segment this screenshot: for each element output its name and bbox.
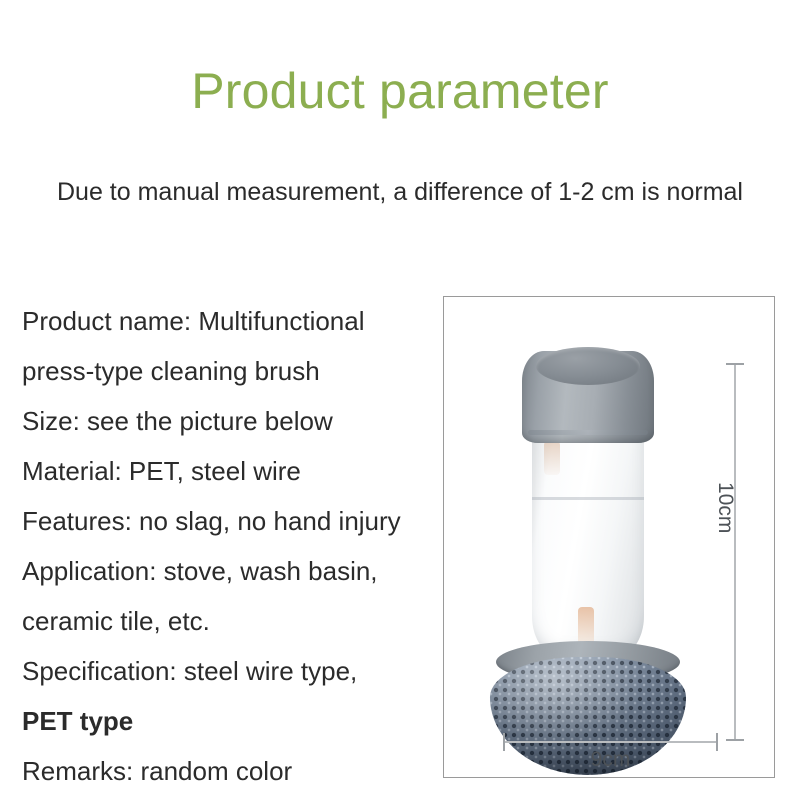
height-tick-top: [726, 363, 744, 365]
height-dimension-line: [734, 363, 736, 741]
spec-line-remarks: Remarks: random color: [22, 746, 432, 796]
specification-list: Product name: Multifunctional press-type…: [22, 296, 432, 796]
spec-line-application-cont: ceramic tile, etc.: [22, 596, 432, 646]
spec-line-features: Features: no slag, no hand injury: [22, 496, 432, 546]
width-dimension-label: 9cm: [503, 747, 718, 773]
height-tick-bottom: [726, 739, 744, 741]
cleaning-brush-illustration: [482, 345, 694, 725]
spec-line-specification-cont: PET type: [22, 696, 432, 746]
product-photo-panel: 10cm 9cm: [443, 296, 775, 778]
height-dimension-label: 10cm: [714, 482, 736, 533]
spec-line-product-name-cont: press-type cleaning brush: [22, 346, 432, 396]
press-button: [536, 347, 640, 385]
measurement-note: Due to manual measurement, a difference …: [0, 176, 800, 208]
reservoir-seam: [532, 497, 644, 500]
page-title: Product parameter: [0, 62, 800, 120]
spec-line-specification: Specification: steel wire type,: [22, 646, 432, 696]
spec-line-application: Application: stove, wash basin,: [22, 546, 432, 596]
width-dimension-line: [503, 741, 718, 743]
product-parameter-page: Product parameter Due to manual measurem…: [0, 0, 800, 800]
spec-line-product-name: Product name: Multifunctional: [22, 296, 432, 346]
product-photo: 10cm 9cm: [444, 297, 774, 777]
spec-line-material: Material: PET, steel wire: [22, 446, 432, 496]
cap-seam: [528, 430, 648, 435]
spec-line-size: Size: see the picture below: [22, 396, 432, 446]
